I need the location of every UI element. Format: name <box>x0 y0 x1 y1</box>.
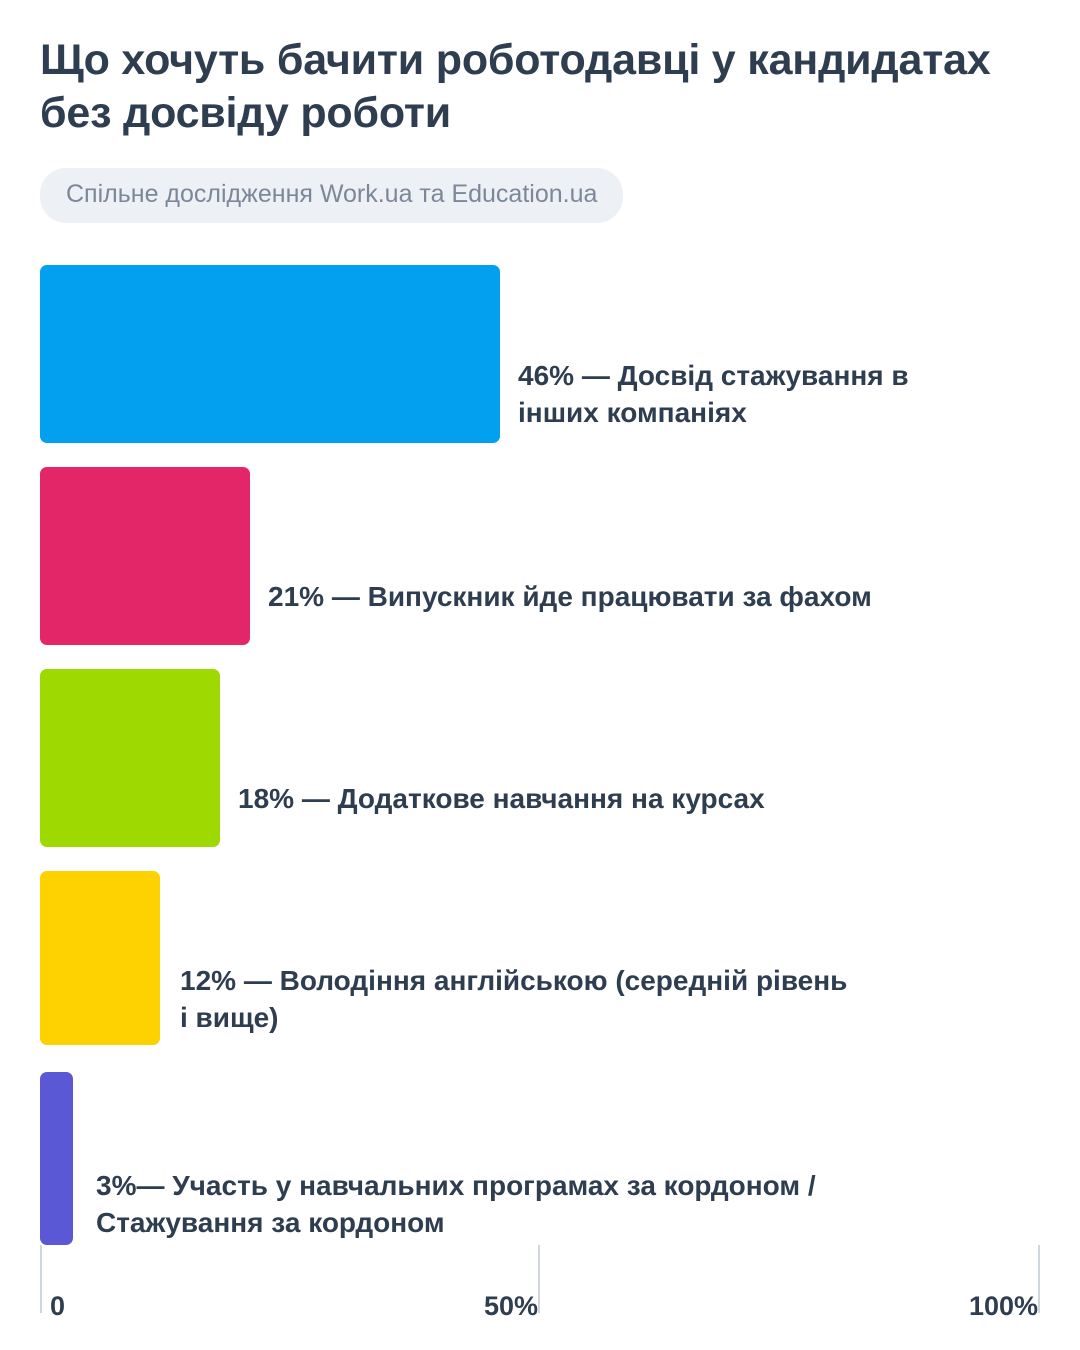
bar-label-2: 21% — Випускник йде працювати за фахом <box>268 541 1028 615</box>
bar-percent-3: 18% <box>238 783 294 814</box>
bar-text-4: Володіння англійською (середній рівень і… <box>180 965 847 1033</box>
bar-separator-4: — <box>236 965 280 996</box>
axis-tick-line <box>40 1245 42 1313</box>
bar-percent-1: 46% <box>518 360 574 391</box>
bar-segment-2 <box>40 467 250 645</box>
bar-segment-4 <box>40 871 160 1045</box>
axis-tick-line <box>1038 1245 1040 1313</box>
axis-tick-label-50: 50% <box>484 1293 538 1320</box>
page-title: Що хочуть бачити роботодавці у кандидата… <box>40 34 1040 140</box>
bar-percent-5: 3% <box>96 1170 136 1201</box>
infographic-page: Що хочуть бачити роботодавці у кандидата… <box>0 0 1080 1350</box>
bar-text-2: Випускник йде працювати за фахом <box>368 581 872 612</box>
axis-tick-line <box>538 1245 540 1313</box>
bar-segment-5 <box>40 1072 73 1245</box>
axis-tick-label-100: 100% <box>969 1293 1038 1320</box>
bar-label-1: 46% — Досвід стажування в інших компанія… <box>518 320 1038 432</box>
bar-segment-3 <box>40 669 220 847</box>
bar-percent-4: 12% <box>180 965 236 996</box>
bar-separator-3: — <box>294 783 338 814</box>
bar-text-3: Додаткове навчання на курсах <box>338 783 765 814</box>
x-axis: 0 50% 100% <box>40 1245 1042 1350</box>
bar-separator-5: — <box>136 1170 172 1201</box>
bar-label-3: 18% — Додаткове навчання на курсах <box>238 743 998 817</box>
bar-text-5: Участь у навчальних програмах за кордоно… <box>96 1170 816 1238</box>
bar-separator-2: — <box>324 581 368 612</box>
bar-segment-1 <box>40 265 500 443</box>
chart-plot-area: 46% — Досвід стажування в інших компанія… <box>40 265 1040 1265</box>
bar-label-5: 3%— Участь у навчальних програмах за кор… <box>96 1130 996 1242</box>
bar-separator-1: — <box>574 360 618 391</box>
bar-label-4: 12% — Володіння англійською (середній рі… <box>180 925 1020 1037</box>
axis-tick-label-0: 0 <box>50 1293 65 1320</box>
chart-header: Що хочуть бачити роботодавці у кандидата… <box>40 34 1040 223</box>
bar-percent-2: 21% <box>268 581 324 612</box>
subtitle-badge: Спільне дослідження Work.ua та Education… <box>40 168 623 223</box>
